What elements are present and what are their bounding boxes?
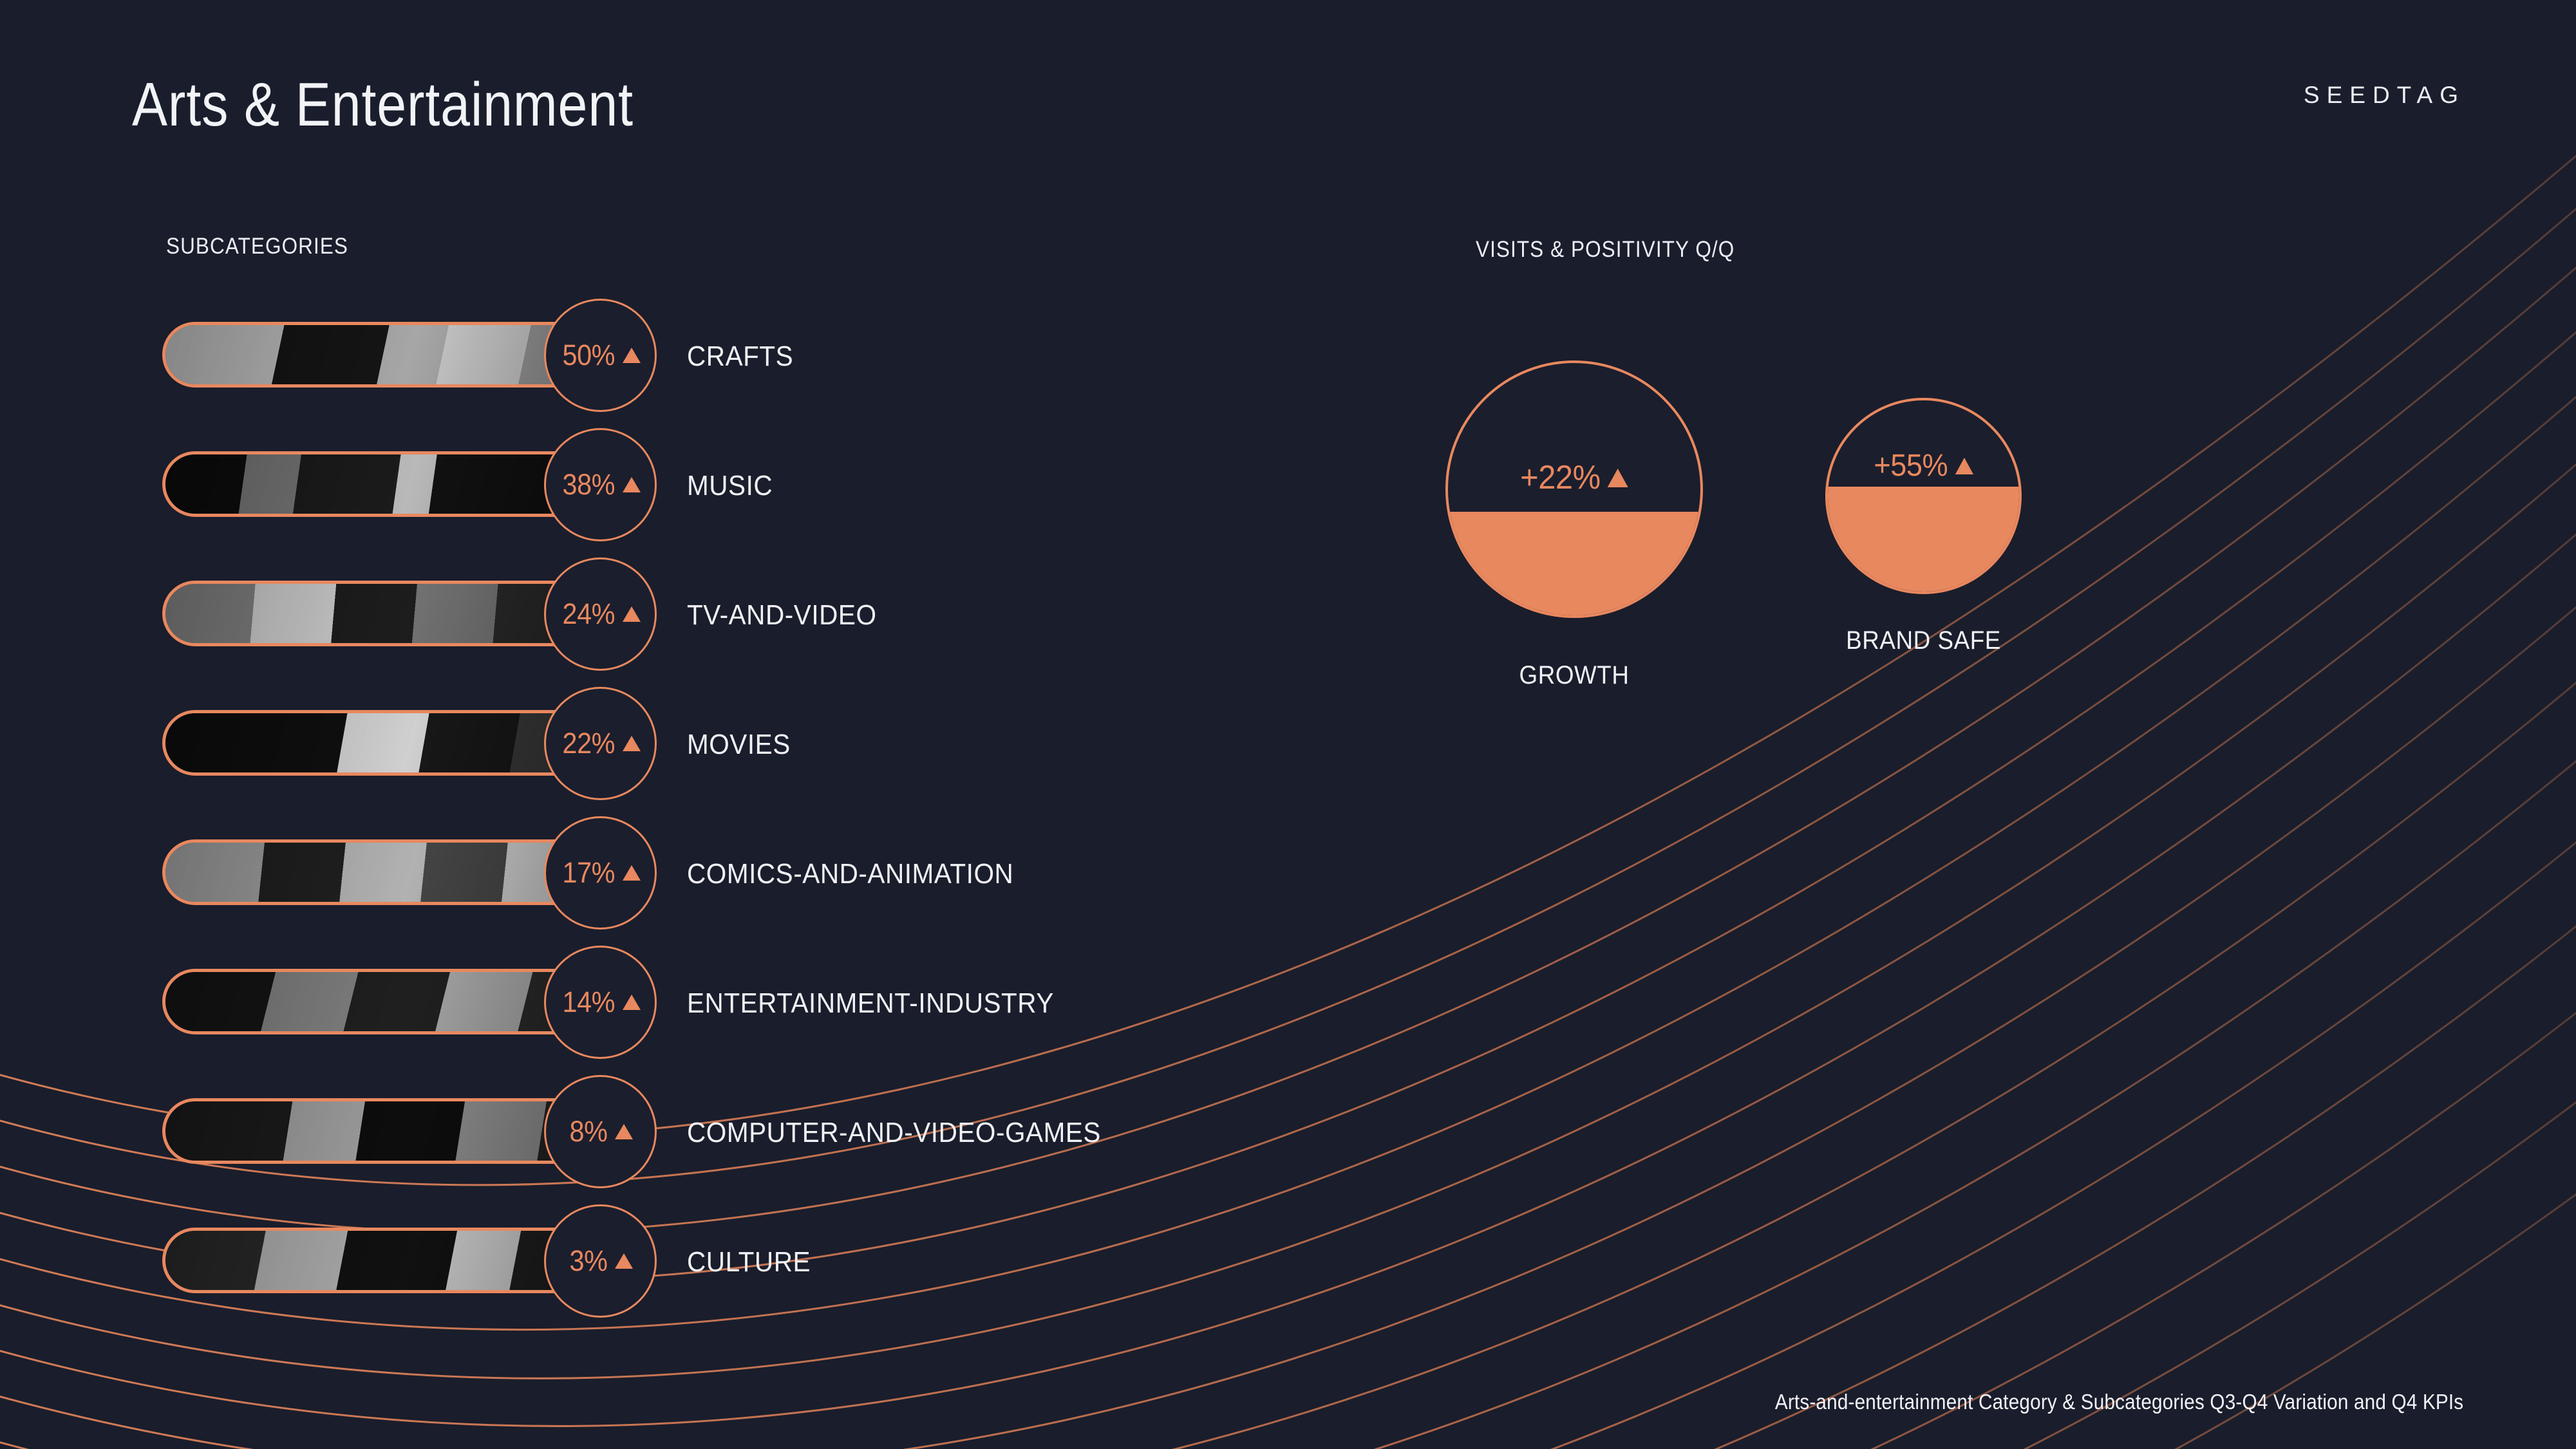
subcategory-label: MOVIES [687,729,791,761]
brand-safe-caption: BRAND SAFE [1833,626,2014,655]
game-controller-photo [165,1231,610,1290]
subcategories-list: 50%CRAFTS38%MUSIC24%TV-AND-VIDEO22%MOVIE… [162,313,1386,1349]
subcategory-percent-value: 3% [570,1244,608,1278]
growth-gauge-circle: +22% [1445,360,1703,618]
trend-up-icon [623,736,641,751]
trend-up-icon [615,1124,633,1139]
trend-up-icon [1608,469,1628,487]
trend-up-icon [623,865,641,881]
cinema-audience-photo [165,713,610,772]
subcategory-percent-badge: 14% [544,946,657,1059]
subcategory-percent-badge: 8% [544,1075,657,1188]
subcategory-percent-badge: 17% [544,816,657,930]
subcategory-row[interactable]: 17%COMICS-AND-ANIMATION [162,831,1386,913]
subcategory-row[interactable]: 3%CULTURE [162,1219,1386,1302]
subcategory-label: TV-AND-VIDEO [687,599,877,631]
subcategory-row[interactable]: 8%COMPUTER-AND-VIDEO-GAMES [162,1090,1386,1172]
singer-microphone-photo [165,1101,610,1161]
trend-up-icon [1955,458,1973,474]
music-guitar-photo [165,454,610,514]
trend-up-icon [623,995,641,1010]
subcategory-row[interactable]: 14%ENTERTAINMENT-INDUSTRY [162,960,1386,1043]
popcorn-remote-photo [165,584,610,643]
trend-up-icon [623,348,641,363]
page-title: Arts & Entertainment [132,70,634,140]
brand-safe-gauge-fill [1828,487,2019,592]
growth-value-row: +22% [1456,458,1693,497]
brand-safe-value-text: +55% [1874,448,1948,483]
subcategory-label: ENTERTAINMENT-INDUSTRY [687,987,1054,1020]
growth-value-text: +22% [1520,458,1601,497]
growth-gauge-fill [1448,512,1700,615]
subcategory-row[interactable]: 50%CRAFTS [162,313,1386,396]
subcategory-row[interactable]: 38%MUSIC [162,443,1386,525]
subcategory-row[interactable]: 22%MOVIES [162,702,1386,784]
subcategory-label: CULTURE [687,1246,811,1278]
brand-safe-gauge-circle: +55% [1825,398,2022,594]
subcategory-percent-value: 8% [570,1115,608,1148]
visits-positivity-heading: VISITS & POSITIVITY Q/Q [1476,237,1735,263]
subcategory-percent-badge: 24% [544,557,657,671]
footer-note: Arts-and-entertainment Category & Subcat… [1775,1390,2463,1414]
crafts-sewing-photo [165,325,610,384]
subcategory-percent-badge: 38% [544,428,657,541]
brand-safe-value-row: +55% [1834,448,2013,483]
subcategory-percent-value: 24% [562,597,614,631]
subcategories-heading: SUBCATEGORIES [166,234,348,259]
kpi-growth[interactable]: +22% GROWTH [1445,360,1703,618]
subcategory-percent-badge: 3% [544,1204,657,1318]
growth-caption: GROWTH [1456,661,1693,690]
subcategory-percent-value: 22% [562,727,614,760]
trend-up-icon [623,606,641,622]
subcategory-label: MUSIC [687,470,773,502]
subcategory-percent-badge: 50% [544,299,657,412]
subcategory-label: CRAFTS [687,341,793,373]
kpi-brand-safe[interactable]: +55% BRAND SAFE [1825,398,2022,594]
subcategory-percent-value: 38% [562,468,614,501]
film-crew-camera-photo [165,972,610,1031]
subcategory-label: COMICS-AND-ANIMATION [687,858,1013,890]
subcategory-percent-value: 17% [562,856,614,890]
subcategory-row[interactable]: 24%TV-AND-VIDEO [162,572,1386,655]
subcategory-label: COMPUTER-AND-VIDEO-GAMES [687,1117,1101,1149]
seedtag-logo: SEEDTAG [2304,82,2465,109]
spiderman-comics-photo [165,843,610,902]
slide-root: Arts & Entertainment SEEDTAG SUBCATEGORI… [0,0,2576,1449]
trend-up-icon [615,1253,633,1269]
trend-up-icon [623,477,641,492]
subcategory-percent-value: 14% [562,986,614,1019]
subcategory-percent-value: 50% [562,339,614,372]
subcategory-percent-badge: 22% [544,687,657,800]
